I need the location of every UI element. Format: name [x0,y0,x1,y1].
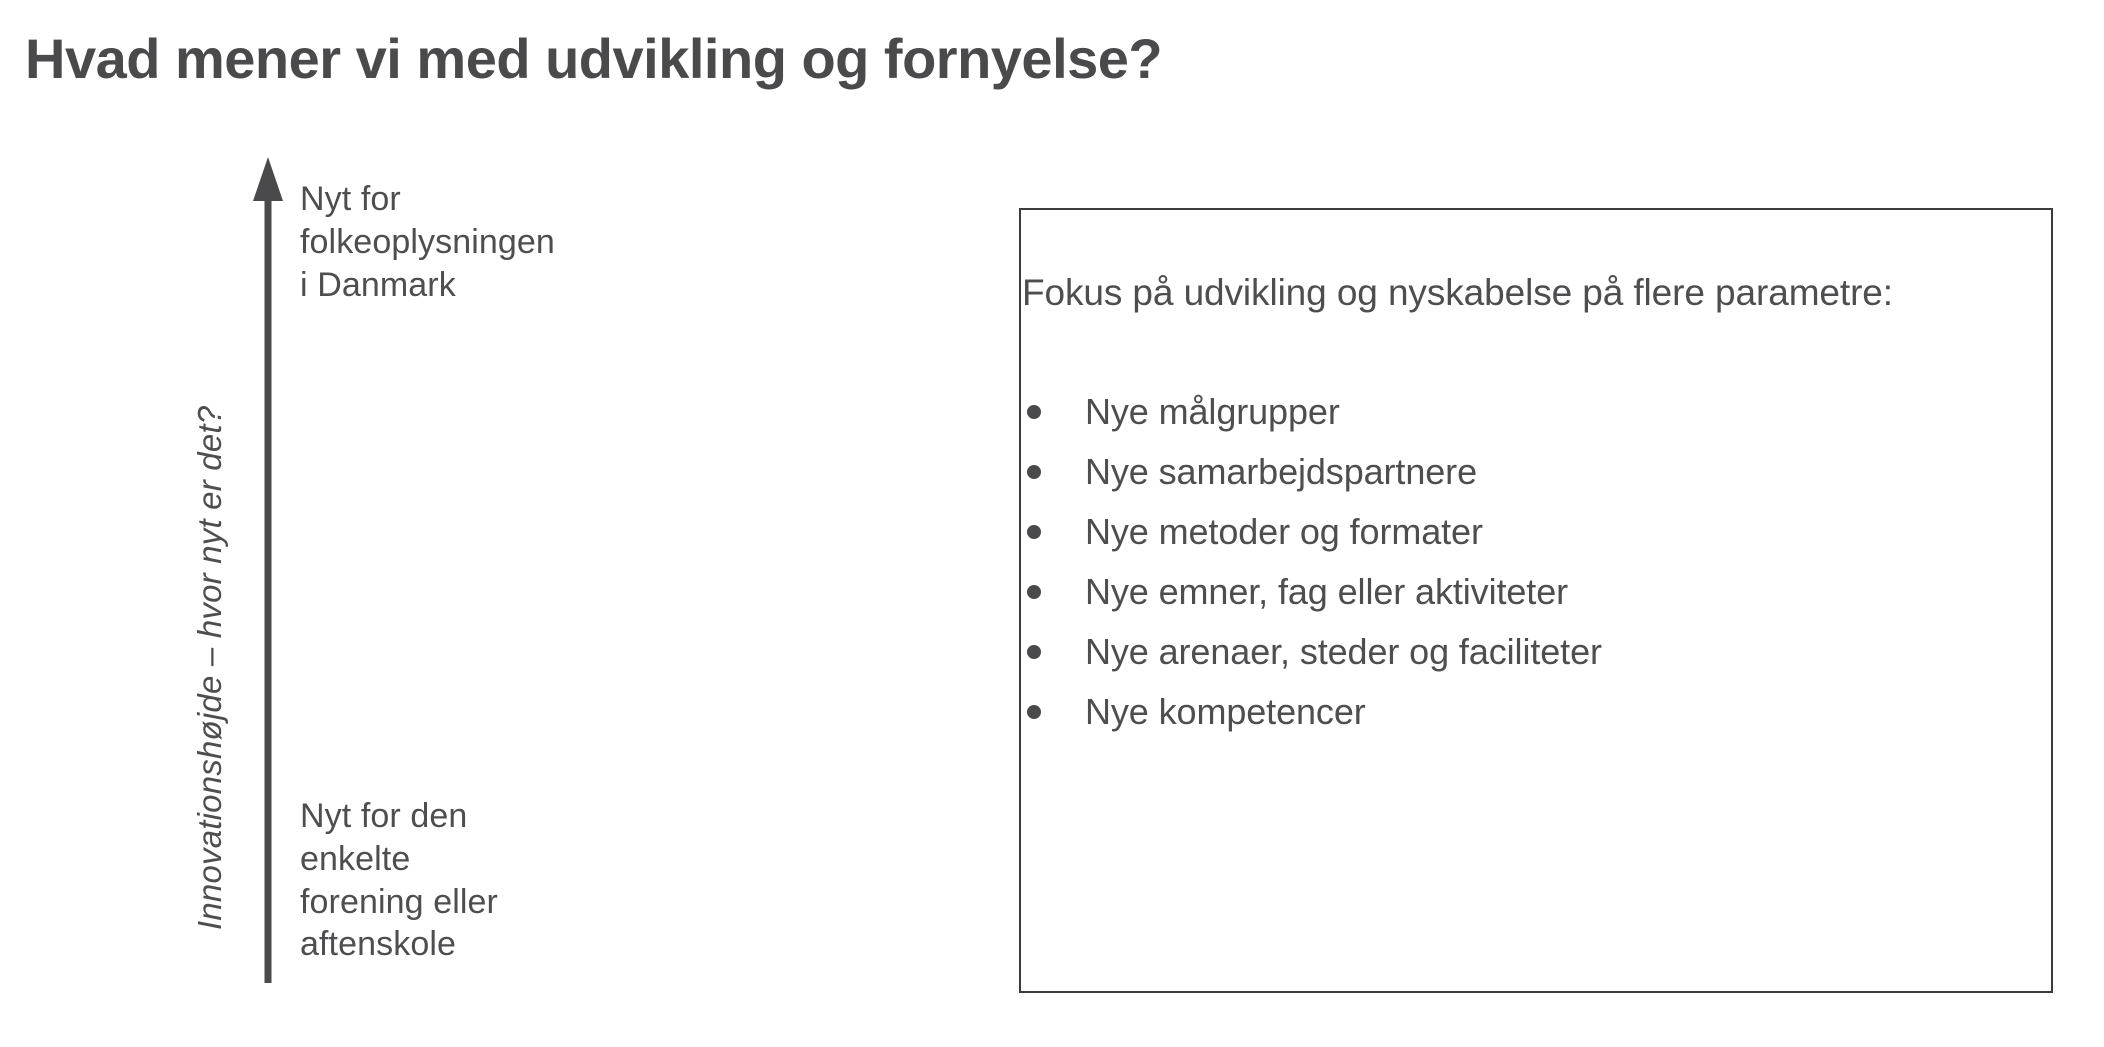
list-item-label: Nye målgrupper [1085,382,1340,442]
page-title: Hvad mener vi med udvikling og fornyelse… [25,24,1162,94]
list-item-label: Nye metoder og formater [1085,502,1483,562]
parameter-bullet-list: Nye målgrupperNye samarbejdspartnereNye … [1019,382,1602,742]
bullet-dot-icon [1027,705,1041,719]
bullet-dot-icon [1027,405,1041,419]
list-item: Nye kompetencer [1019,682,1602,742]
list-item: Nye arenaer, steder og faciliteter [1019,622,1602,682]
list-item-label: Nye kompetencer [1085,682,1366,742]
axis-arrow-icon [248,155,288,985]
list-item: Nye metoder og formater [1019,502,1602,562]
list-item: Nye målgrupper [1019,382,1602,442]
bullet-dot-icon [1027,465,1041,479]
list-item: Nye samarbejdspartnere [1019,442,1602,502]
list-item: Nye emner, fag eller aktiviteter [1019,562,1602,622]
content-box-heading: Fokus på udvikling og nyskabelse på fler… [1022,272,1893,314]
bullet-dot-icon [1027,585,1041,599]
list-item-label: Nye samarbejdspartnere [1085,442,1477,502]
axis-label-bottom: Nyt for den enkelte forening eller aften… [300,795,498,966]
slide-canvas: Hvad mener vi med udvikling og fornyelse… [0,0,2104,1047]
list-item-label: Nye arenaer, steder og faciliteter [1085,622,1602,682]
axis-label-top: Nyt for folkeoplysningen i Danmark [300,178,555,306]
axis-caption-label: Innovationshøjde – hvor nyt er det? [180,280,240,930]
bullet-dot-icon [1027,645,1041,659]
list-item-label: Nye emner, fag eller aktiviteter [1085,562,1568,622]
bullet-dot-icon [1027,525,1041,539]
